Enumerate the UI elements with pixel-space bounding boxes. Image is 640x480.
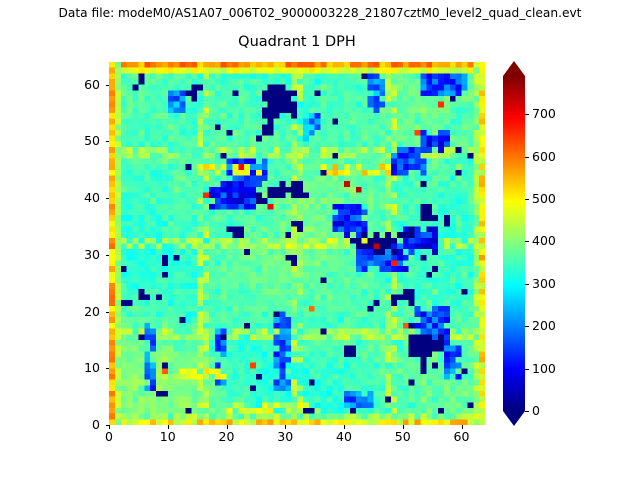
colorbar-tick-mark [525,114,529,115]
heatmap-image [109,62,485,425]
colorbar-tick-mark [525,411,529,412]
colorbar-tick-mark [525,284,529,285]
colorbar-tick-label: 600 [532,150,556,164]
x-tick-label: 0 [105,430,113,444]
x-tick-mark [285,425,286,429]
colorbar-tick-label: 200 [532,319,556,333]
x-tick-label: 20 [219,430,235,444]
y-tick-label: 0 [0,418,100,432]
colorbar-tick-label: 500 [532,192,556,206]
y-tick-mark [106,425,110,426]
x-tick-label: 50 [395,430,411,444]
data-file-suptitle: Data file: modeM0/AS1A07_006T02_90000032… [0,6,640,21]
colorbar-tick-label: 0 [532,404,540,418]
x-tick-label: 30 [277,430,293,444]
colorbar-tick-mark [525,326,529,327]
y-tick-mark [106,312,110,313]
colorbar-under-arrow-icon [503,411,525,426]
x-tick-mark [344,425,345,429]
y-tick-mark [106,85,110,86]
x-tick-label: 40 [336,430,352,444]
y-tick-mark [106,368,110,369]
figure-canvas: Data file: modeM0/AS1A07_006T02_90000032… [0,0,640,480]
x-tick-label: 60 [454,430,470,444]
colorbar-tick-label: 300 [532,277,556,291]
colorbar-tick-label: 700 [532,107,556,121]
y-tick-label: 60 [0,78,100,92]
y-tick-mark [106,198,110,199]
colorbar-tick-label: 400 [532,234,556,248]
colorbar[interactable] [503,76,525,411]
x-tick-label: 10 [160,430,176,444]
colorbar-tick-mark [525,369,529,370]
colorbar-gradient [503,76,525,411]
x-tick-mark [227,425,228,429]
colorbar-tick-mark [525,199,529,200]
y-tick-label: 20 [0,305,100,319]
colorbar-tick-mark [525,241,529,242]
x-tick-mark [403,425,404,429]
x-tick-mark [462,425,463,429]
heatmap-axes[interactable] [109,62,485,425]
colorbar-tick-label: 100 [532,362,556,376]
x-tick-mark [168,425,169,429]
y-tick-mark [106,141,110,142]
y-tick-label: 30 [0,248,100,262]
x-tick-mark [109,425,110,429]
page-title: Quadrant 1 DPH [109,33,485,51]
y-tick-label: 40 [0,191,100,205]
y-tick-label: 50 [0,134,100,148]
colorbar-over-arrow-icon [503,61,525,76]
y-tick-label: 10 [0,361,100,375]
colorbar-tick-mark [525,157,529,158]
y-tick-mark [106,255,110,256]
